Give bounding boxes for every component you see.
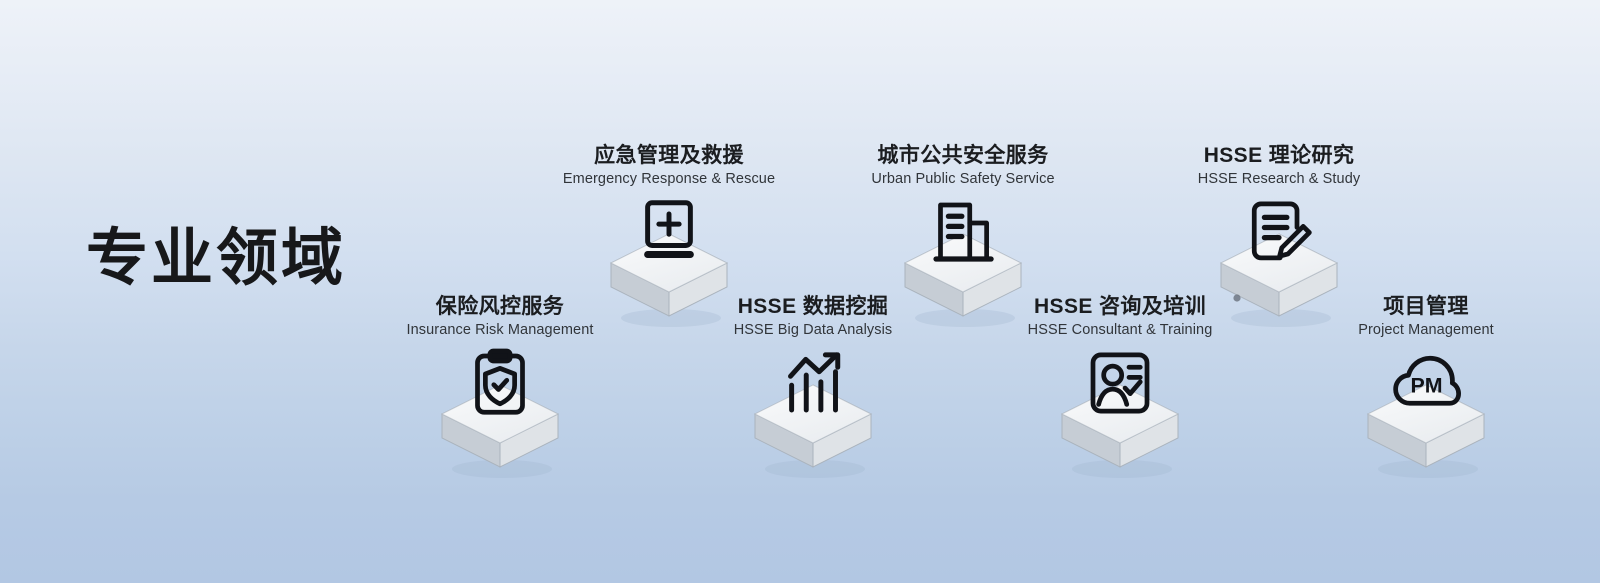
domain-label-hsse-consultant-training: HSSE 咨询及培训HSSE Consultant & Training [970,296,1270,341]
domain-label-en: Emergency Response & Rescue [519,170,819,190]
domain-pedestal-insurance-risk-management[interactable] [350,347,650,477]
cloud-pm-icon: PM [1390,347,1462,419]
domain-item-insurance-risk-management[interactable]: 保险风控服务Insurance Risk Management [350,296,650,477]
person-id-card-check-icon [1084,347,1156,419]
clipboard-shield-check-icon [464,347,536,419]
domain-label-en: HSSE Consultant & Training [970,321,1270,341]
svg-text:PM: PM [1411,373,1443,397]
domain-label-cn: HSSE 数据挖掘 [663,296,963,318]
domain-label-cn: HSSE 咨询及培训 [970,296,1270,318]
office-building-icon [927,196,999,268]
domain-label-hsse-research-study: HSSE 理论研究HSSE Research & Study [1129,145,1429,190]
domain-label-en: Urban Public Safety Service [813,170,1113,190]
domain-item-hsse-big-data-analysis[interactable]: HSSE 数据挖掘HSSE Big Data Analysis [663,296,963,477]
domain-label-cn: HSSE 理论研究 [1129,145,1429,167]
page-title: 专业领域 [86,228,346,290]
domain-label-en: Insurance Risk Management [350,321,650,341]
domain-label-cn: 项目管理 [1276,296,1576,318]
domain-label-cn: 应急管理及救援 [519,145,819,167]
domain-label-insurance-risk-management: 保险风控服务Insurance Risk Management [350,296,650,341]
domain-label-en: Project Management [1276,321,1576,341]
professional-domains-banner: 专业领域 保险风控服务Insurance Risk Management 应急管… [0,0,1600,583]
domain-label-hsse-big-data-analysis: HSSE 数据挖掘HSSE Big Data Analysis [663,296,963,341]
domain-label-project-management: 项目管理Project Management [1276,296,1576,341]
domain-label-en: HSSE Research & Study [1129,170,1429,190]
bar-chart-trend-icon [777,347,849,419]
domain-pedestal-hsse-consultant-training[interactable] [970,347,1270,477]
domain-item-project-management[interactable]: 项目管理Project Management PM [1276,296,1576,477]
domain-pedestal-project-management[interactable]: PM [1276,347,1576,477]
first-aid-plus-icon [633,196,705,268]
domain-item-hsse-consultant-training[interactable]: HSSE 咨询及培训HSSE Consultant & Training [970,296,1270,477]
domain-label-cn: 城市公共安全服务 [813,145,1113,167]
domain-pedestal-hsse-big-data-analysis[interactable] [663,347,963,477]
domain-label-urban-public-safety-service: 城市公共安全服务Urban Public Safety Service [813,145,1113,190]
domain-label-en: HSSE Big Data Analysis [663,321,963,341]
document-pencil-icon [1243,196,1315,268]
domain-label-cn: 保险风控服务 [350,296,650,318]
domain-label-emergency-response-rescue: 应急管理及救援Emergency Response & Rescue [519,145,819,190]
